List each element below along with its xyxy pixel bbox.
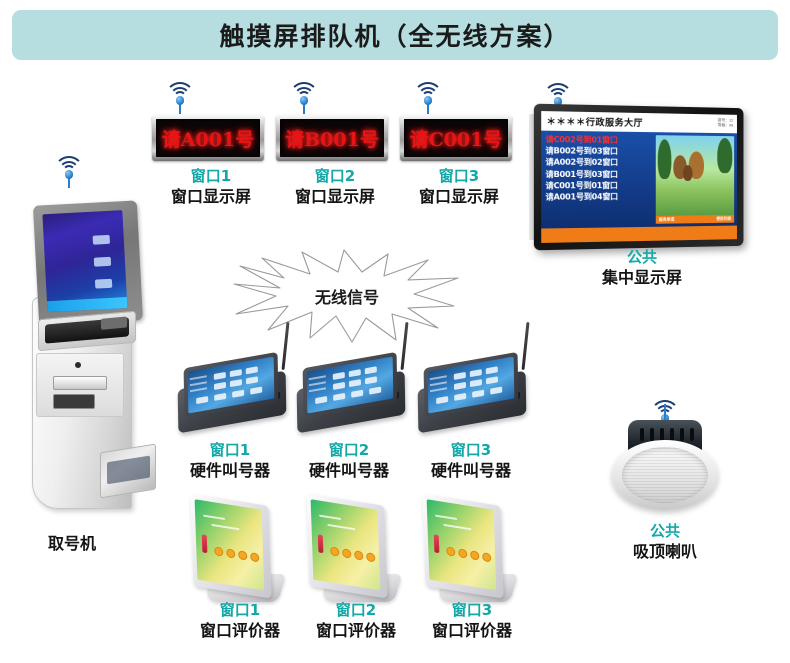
lcd-body: 请C002号到01窗口 请B002号到03窗口 请A002号到02窗口 请B00… — [541, 131, 737, 229]
window-evaluator-3 — [418, 500, 526, 612]
speaker-caption: 公共 吸顶喇叭 — [590, 521, 740, 562]
window-evaluator-3-caption: 窗口3 窗口评价器 — [397, 600, 547, 641]
led-call-text: 请C001号 — [410, 125, 503, 152]
lcd-bottom-bar — [541, 226, 737, 243]
caption-window-index: 窗口3 — [396, 440, 546, 460]
window-evaluator-2 — [302, 500, 410, 612]
hardware-caller-3-caption: 窗口3 硬件叫号器 — [396, 440, 546, 481]
lcd-hall-title: ＊＊＊＊行政服务大厅 — [546, 114, 643, 129]
led-screen: 请C001号 — [404, 119, 508, 157]
lcd-queue-row: 请B002号到03窗口 — [545, 145, 655, 157]
wireless-signal-burst: 无线信号 — [232, 248, 462, 344]
kiosk-ticket-slot — [53, 376, 107, 390]
lcd-queue-row: 请C002号到01窗口 — [545, 134, 655, 147]
caption-device-name: 窗口显示屏 — [384, 186, 534, 207]
led-screen: 请B001号 — [280, 119, 384, 157]
diagram-canvas: 触摸屏排队机（全无线方案） 取号机 — [0, 0, 790, 663]
speaker-grille — [622, 447, 708, 503]
kiosk-head — [33, 200, 143, 325]
evaluator-accent-bar — [318, 534, 324, 553]
evaluator-frame — [422, 494, 503, 599]
speaker-rim — [612, 440, 718, 510]
caption-scope: 公共 — [567, 247, 717, 267]
public-display-caption: 公共 集中显示屏 — [567, 247, 717, 288]
kiosk-indicator-led — [75, 362, 81, 368]
led-call-text: 请B001号 — [285, 125, 379, 152]
evaluator-touchscreen[interactable] — [427, 499, 497, 590]
window-evaluator-1 — [186, 500, 294, 612]
kiosk-card-slot — [53, 394, 95, 409]
page-title: 触摸屏排队机（全无线方案） — [12, 10, 778, 60]
led-screen: 请A001号 — [156, 119, 260, 157]
lcd-meta-line2: 等候：08 — [718, 122, 733, 127]
ticker-right: 便民利民 — [716, 216, 731, 222]
lcd-queue-row: 请C001号到01窗口 — [545, 180, 655, 192]
kiosk-front-panel — [36, 353, 124, 417]
header-band: 触摸屏排队机（全无线方案） — [12, 10, 778, 60]
lcd-video-pane: 服务承诺 便民利民 — [656, 135, 734, 224]
lcd-meta: 排号：12 等候：08 — [718, 117, 733, 127]
lcd-queue-row: 请B001号到03窗口 — [545, 168, 655, 180]
evaluator-accent-bar — [434, 534, 440, 553]
caption-device-name: 硬件叫号器 — [396, 460, 546, 481]
lcd-queue-list: 请C002号到01窗口 请B002号到03窗口 请A002号到02窗口 请B00… — [541, 131, 656, 229]
caption-device-name: 吸顶喇叭 — [590, 541, 740, 562]
wireless-signal-label: 无线信号 — [232, 284, 462, 308]
evaluator-touchscreen[interactable] — [311, 499, 381, 590]
caption-device-name: 集中显示屏 — [567, 267, 717, 288]
public-central-display: ＊＊＊＊行政服务大厅 排号：12 等候：08 请C002号到01窗口 请B002… — [536, 106, 748, 248]
lcd-video-ticker: 服务承诺 便民利民 — [656, 215, 734, 224]
hardware-caller-1 — [176, 358, 294, 432]
caption-window-index: 窗口3 — [384, 166, 534, 186]
led-frame: 请C001号 — [400, 115, 512, 161]
wifi-icon-window-display-2 — [287, 82, 321, 114]
ticket-kiosk — [14, 185, 164, 515]
evaluator-accent-bar — [202, 534, 208, 553]
led-frame: 请B001号 — [276, 115, 388, 161]
led-call-text: 请A001号 — [162, 125, 254, 152]
antenna-icon — [521, 322, 529, 370]
kiosk-caption: 取号机 — [0, 533, 147, 554]
ticker-left: 服务承诺 — [659, 217, 675, 223]
evaluator-touchscreen[interactable] — [195, 499, 265, 590]
caption-scope: 公共 — [590, 521, 740, 541]
kiosk-touchscreen[interactable] — [42, 210, 127, 312]
lcd-queue-row: 请A002号到02窗口 — [545, 157, 655, 169]
kiosk-base-foot — [100, 444, 156, 499]
ceiling-speaker — [600, 418, 730, 528]
evaluator-frame — [190, 494, 271, 599]
lcd-queue-row: 请A001号到04窗口 — [545, 191, 655, 203]
evaluator-frame — [306, 494, 387, 599]
wifi-icon-window-display-1 — [163, 82, 197, 114]
wifi-icon-window-display-3 — [411, 82, 445, 114]
hardware-caller-2 — [295, 358, 413, 432]
lcd-screen: ＊＊＊＊行政服务大厅 排号：12 等候：08 请C002号到01窗口 请B002… — [541, 111, 737, 243]
window-display-3-caption: 窗口3 窗口显示屏 — [384, 166, 534, 207]
kiosk-label: 取号机 — [0, 533, 147, 554]
caption-window-index: 窗口3 — [397, 600, 547, 620]
caption-device-name: 窗口评价器 — [397, 620, 547, 641]
hardware-caller-3 — [416, 358, 534, 432]
led-frame: 请A001号 — [152, 115, 264, 161]
wifi-icon-kiosk — [52, 156, 86, 188]
lcd-bezel: ＊＊＊＊行政服务大厅 排号：12 等候：08 请C002号到01窗口 请B002… — [534, 104, 744, 251]
